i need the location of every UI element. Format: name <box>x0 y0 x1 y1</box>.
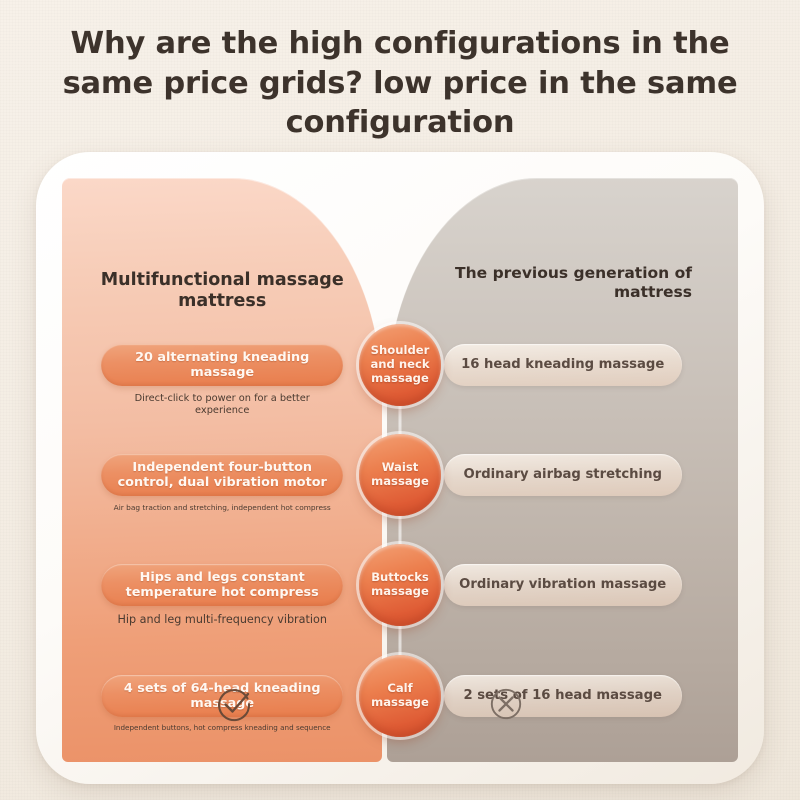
left-row-2-caption: Air bag traction and stretching, indepen… <box>114 503 331 512</box>
check-circle-icon <box>214 684 254 724</box>
right-row-2-pill[interactable]: Ordinary airbag stretching <box>444 454 682 496</box>
left-row-3[interactable]: Hips and legs constant temperature hot c… <box>62 564 382 627</box>
left-row-2[interactable]: Independent four-button control, dual vi… <box>62 454 382 512</box>
right-row-4-pill[interactable]: 2 sets of 16 head massage <box>444 675 682 717</box>
badge-buttocks-massage[interactable]: Buttocks massage <box>359 544 441 626</box>
badge-calf-massage[interactable]: Calf massage <box>359 655 441 737</box>
badge-waist-massage[interactable]: Waist massage <box>359 434 441 516</box>
left-row-1[interactable]: 20 alternating kneading massage Direct-c… <box>62 344 382 417</box>
left-row-3-caption: Hip and leg multi-frequency vibration <box>117 613 326 627</box>
comparison-card: Multifunctional massage mattress 20 alte… <box>36 152 764 784</box>
badge-shoulder-and-neck-massage[interactable]: Shoulder and neck massage <box>359 324 441 406</box>
left-row-1-pill[interactable]: 20 alternating kneading massage <box>101 344 343 386</box>
comparison-panels: Multifunctional massage mattress 20 alte… <box>62 178 738 762</box>
page-title: Why are the high configurations in the s… <box>48 24 752 143</box>
cross-circle-icon <box>486 684 526 724</box>
right-row-3-pill[interactable]: Ordinary vibration massage <box>444 564 682 606</box>
panel-multifunctional-mattress: Multifunctional massage mattress 20 alte… <box>62 178 382 762</box>
left-row-3-pill[interactable]: Hips and legs constant temperature hot c… <box>101 564 343 606</box>
left-row-2-pill[interactable]: Independent four-button control, dual vi… <box>101 454 343 496</box>
left-panel-rows: 20 alternating kneading massage Direct-c… <box>62 178 382 762</box>
right-row-1-pill[interactable]: 16 head kneading massage <box>444 344 682 386</box>
left-row-1-caption: Direct-click to power on for a better ex… <box>106 393 338 417</box>
left-row-4-caption: Independent buttons, hot compress kneadi… <box>114 724 331 733</box>
